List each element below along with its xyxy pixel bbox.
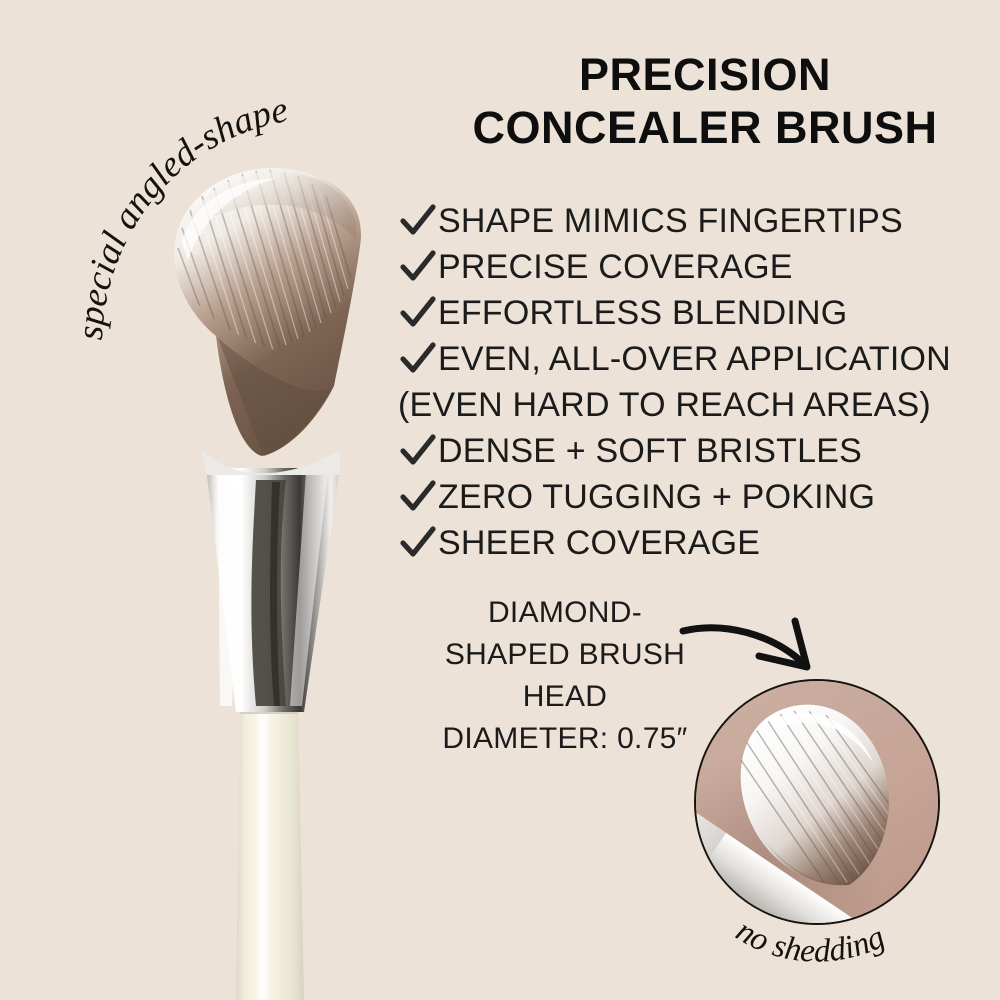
list-item-label: ZERO TUGGING + POKING	[438, 476, 875, 519]
callout-line-4: DIAMETER: 0.75″	[420, 718, 710, 760]
title-line-1: PRECISION	[579, 49, 831, 100]
list-item-sublabel: (EVEN HARD TO REACH AREAS)	[398, 384, 998, 427]
list-item: SHEER COVERAGE	[398, 522, 998, 565]
check-icon	[398, 248, 438, 286]
list-item-label: SHEER COVERAGE	[438, 522, 760, 565]
list-item-label: PRECISE COVERAGE	[438, 246, 793, 289]
list-item-label: EFFORTLESS BLENDING	[438, 292, 847, 335]
check-icon	[398, 478, 438, 516]
arc-label-special-angled-shape: special angled-shape	[40, 60, 440, 380]
page-title: PRECISION CONCEALER BRUSH	[420, 48, 990, 154]
infographic-canvas: special angled-shape PRECISION CONCEALER…	[0, 0, 1000, 1000]
list-item-label: SHAPE MIMICS FINGERTIPS	[438, 200, 903, 243]
check-icon	[398, 524, 438, 562]
title-line-2: CONCEALER BRUSH	[420, 101, 990, 154]
list-item: SHAPE MIMICS FINGERTIPS	[398, 200, 998, 243]
arc-label-no-shedding: no shedding	[670, 870, 970, 990]
list-item: DENSE + SOFT BRISTLES	[398, 430, 998, 473]
list-item-label: EVEN, ALL-OVER APPLICATION	[438, 338, 951, 381]
check-icon	[398, 202, 438, 240]
check-icon	[398, 432, 438, 470]
arc-label-left-text: special angled-shape	[70, 89, 291, 341]
check-icon	[398, 340, 438, 378]
feature-list: SHAPE MIMICS FINGERTIPS PRECISE COVERAGE…	[398, 200, 998, 568]
arc-label-bottom-text: no shedding	[730, 913, 890, 970]
list-item: ZERO TUGGING + POKING	[398, 476, 998, 519]
list-item: EFFORTLESS BLENDING	[398, 292, 998, 335]
list-item: EVEN, ALL-OVER APPLICATION	[398, 338, 998, 381]
list-item: PRECISE COVERAGE	[398, 246, 998, 289]
check-icon	[398, 294, 438, 332]
brush-handle	[236, 710, 304, 1000]
list-item-label: DENSE + SOFT BRISTLES	[438, 430, 862, 473]
